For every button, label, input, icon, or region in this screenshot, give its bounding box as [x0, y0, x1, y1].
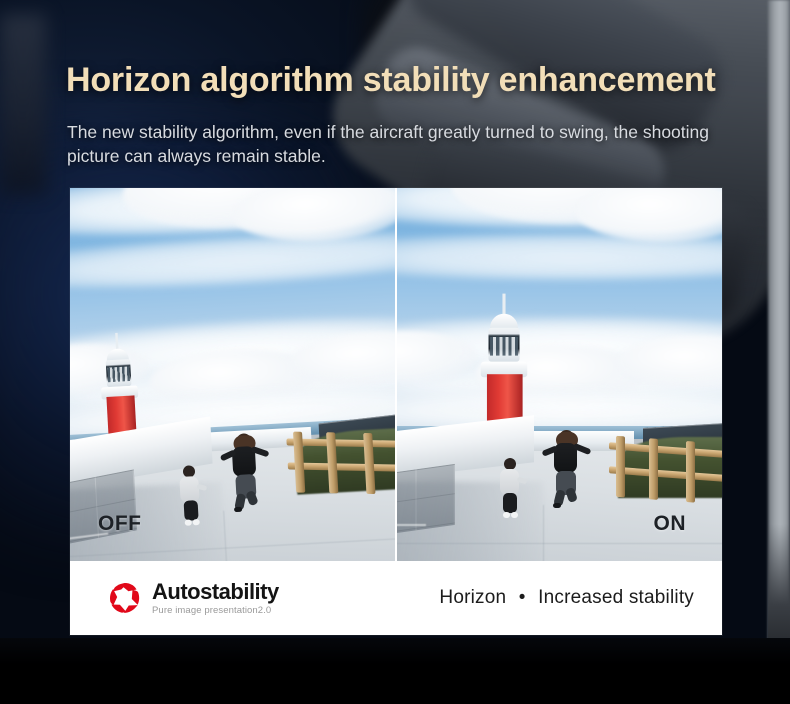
card-footer: Autostability Pure image presentation2.0… [70, 561, 722, 635]
comparison-photos: OFF [70, 188, 722, 561]
feature-horizon: Horizon [439, 587, 506, 608]
runner-adult [547, 430, 585, 506]
wooden-fence [609, 435, 722, 519]
aperture-icon [108, 581, 142, 615]
photo-off[interactable]: OFF [70, 188, 395, 561]
bottom-black-band [0, 638, 790, 704]
page-subtitle: The new stability algorithm, even if the… [67, 120, 737, 168]
runner-child [175, 465, 204, 528]
scene-off [70, 188, 395, 561]
feature-increased-stability: Increased stability [538, 587, 694, 608]
scene-on [397, 188, 722, 561]
promo-slide: Horizon algorithm stability enhancement … [0, 0, 790, 704]
footer-features: Horizon • Increased stability [439, 587, 694, 609]
wooden-fence [285, 432, 395, 506]
brand-text-block: Autostability Pure image presentation2.0 [152, 581, 279, 616]
runner-child [497, 458, 523, 520]
label-on: ON [654, 512, 687, 536]
label-off: OFF [98, 512, 142, 536]
runner-adult [223, 433, 265, 511]
feature-separator: • [512, 587, 533, 608]
page-title: Horizon algorithm stability enhancement [66, 62, 786, 98]
brand-lockup: Autostability Pure image presentation2.0 [108, 581, 279, 616]
photo-on[interactable]: ON [397, 188, 722, 561]
background-left-panel [0, 14, 46, 194]
brand-tagline: Pure image presentation2.0 [152, 606, 279, 616]
comparison-card: OFF [70, 188, 722, 635]
brand-name: Autostability [152, 581, 279, 603]
